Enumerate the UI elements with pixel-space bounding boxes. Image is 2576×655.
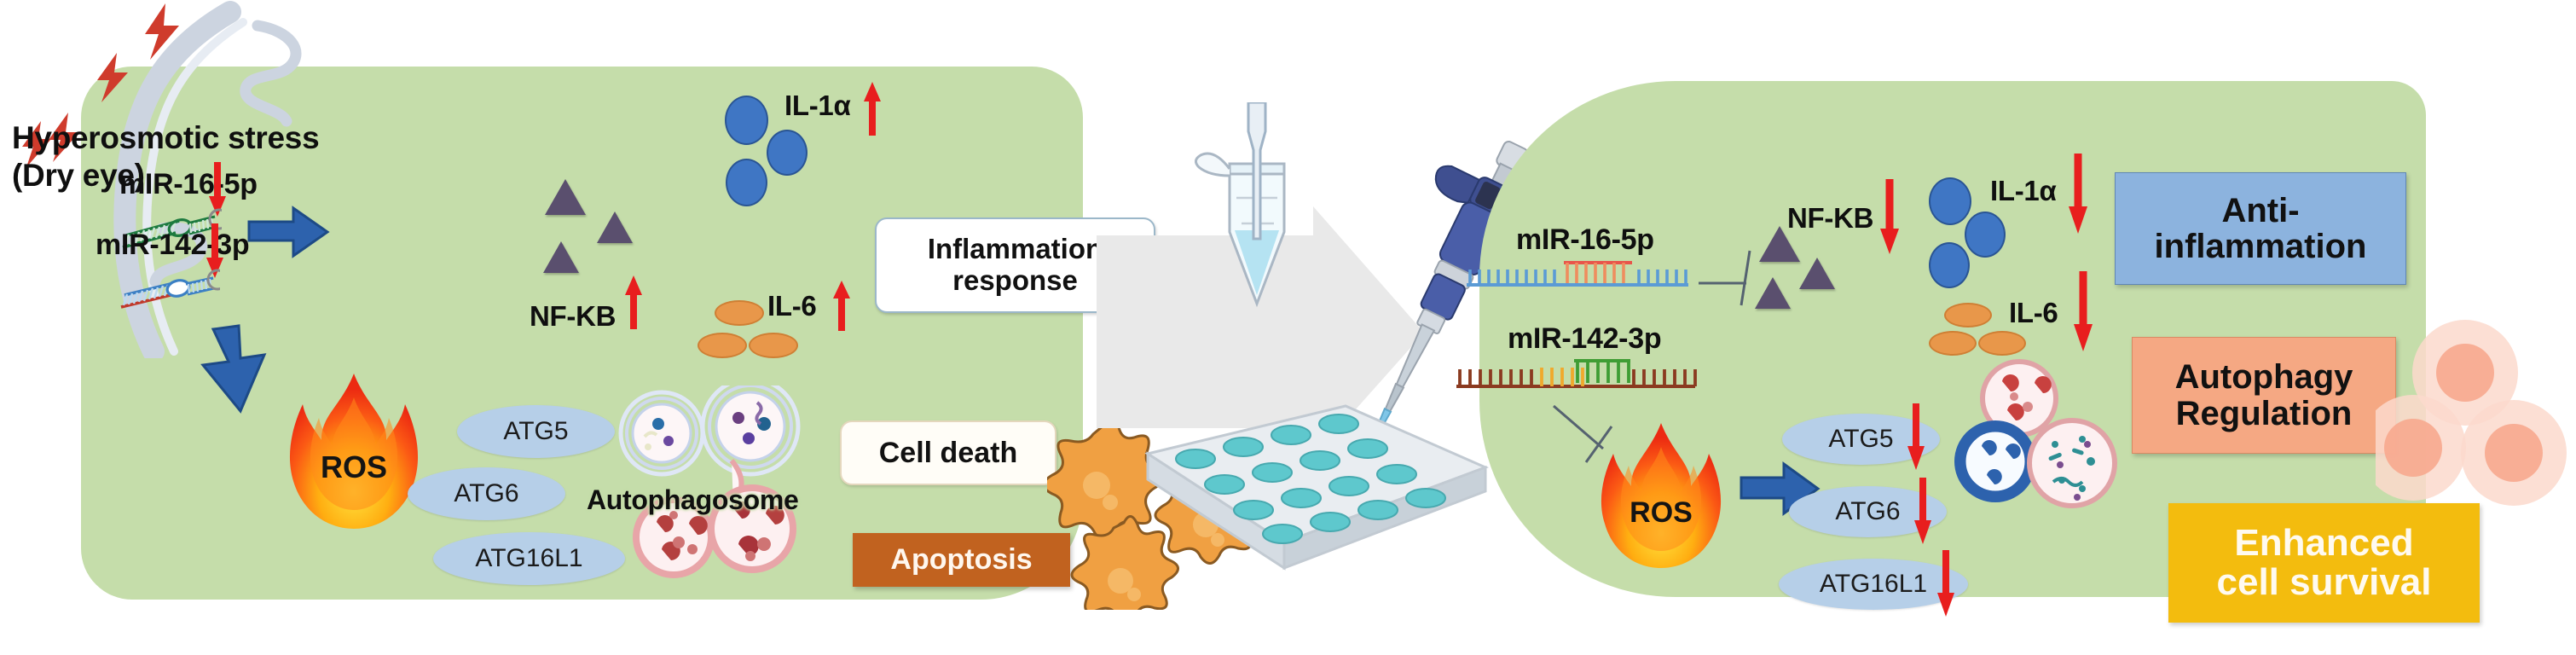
autophagosome-cluster-icon bbox=[1953, 354, 2132, 533]
il6-dot-icon bbox=[1944, 303, 1992, 327]
left-nfkb-label: NF-KB bbox=[530, 300, 616, 333]
il6-dot-icon bbox=[749, 333, 798, 358]
right-il1a-label: IL-1α bbox=[1990, 175, 2056, 207]
figure-canvas: Hyperosmotic stress (Dry eye) mIR-16-5p … bbox=[0, 0, 2576, 655]
right-nfkb-label: NF-KB bbox=[1787, 202, 1873, 235]
well-plate-icon bbox=[1134, 358, 1492, 571]
anti-inflammation-box: Anti- inflammation bbox=[2115, 172, 2406, 285]
survival-line-1: Enhanced bbox=[2217, 524, 2432, 563]
down-arrow-icon bbox=[1936, 550, 1956, 618]
nfkb-triangle-icon bbox=[597, 212, 633, 243]
apoptosis-label: Apoptosis bbox=[890, 543, 1032, 577]
mir-16-5p-mimic-icon bbox=[1465, 256, 1712, 293]
microcentrifuge-tube-icon bbox=[1185, 102, 1339, 358]
left-il6-label: IL-6 bbox=[767, 290, 816, 322]
down-arrow-icon bbox=[2072, 271, 2094, 353]
il1a-dot-icon bbox=[1965, 212, 2006, 258]
atg5-label: ATG5 bbox=[1828, 425, 1893, 454]
il1a-dot-icon bbox=[725, 96, 768, 145]
atg6-label: ATG6 bbox=[1835, 497, 1900, 526]
down-arrow-icon bbox=[1878, 179, 1901, 256]
mir-142-3p-hairpin-icon bbox=[118, 266, 220, 319]
il1a-dot-icon bbox=[726, 159, 767, 206]
atg5-ellipse: ATG5 bbox=[457, 405, 615, 458]
up-arrow-icon bbox=[862, 81, 883, 137]
il1a-dot-icon bbox=[1929, 242, 1970, 288]
mir-142-3p-mimic-icon bbox=[1455, 354, 1711, 395]
ros-flame-icon: ROS bbox=[281, 367, 426, 537]
lightning-bolt-icon bbox=[136, 2, 188, 61]
atg6-label: ATG6 bbox=[454, 479, 518, 508]
down-arrow-icon bbox=[1906, 403, 1926, 472]
ros-activation-arrow-icon bbox=[198, 324, 280, 418]
atg16l1-label: ATG16L1 bbox=[475, 544, 582, 573]
cell-death-box: Cell death bbox=[840, 420, 1056, 485]
autophagy-line-1: Autophagy bbox=[2175, 359, 2353, 395]
nfkb-triangle-icon bbox=[1799, 258, 1835, 289]
left-mir-142-3p-label: mIR-142-3p bbox=[96, 229, 249, 262]
up-arrow-icon bbox=[831, 280, 852, 333]
il1a-dot-icon bbox=[767, 130, 808, 176]
atg5-label: ATG5 bbox=[503, 417, 568, 446]
il6-dot-icon bbox=[698, 333, 747, 358]
survival-line-2: cell survival bbox=[2217, 563, 2432, 602]
right-mir-142-3p-label: mIR-142-3p bbox=[1508, 322, 1661, 356]
down-arrow-icon bbox=[1913, 478, 1933, 546]
left-mir-16-5p-label: mIR-16-5p bbox=[119, 168, 258, 201]
nfkb-triangle-icon bbox=[543, 241, 579, 273]
anti-inflammation-line-1: Anti- bbox=[2155, 193, 2367, 229]
autophagosome-label: Autophagosome bbox=[587, 484, 799, 516]
atg16l1-label: ATG16L1 bbox=[1820, 570, 1927, 599]
healthy-cells-icon bbox=[2376, 320, 2572, 525]
il1a-dot-icon bbox=[1929, 177, 1971, 225]
il6-dot-icon bbox=[1929, 331, 1977, 356]
autophagy-line-2: Regulation bbox=[2175, 396, 2353, 432]
il6-dot-icon bbox=[715, 300, 764, 326]
stress-line-1: Hyperosmotic stress bbox=[12, 119, 319, 157]
enhanced-cell-survival-box: Enhanced cell survival bbox=[2168, 503, 2480, 623]
il6-dot-icon bbox=[1978, 331, 2026, 356]
svg-text:ROS: ROS bbox=[321, 449, 387, 484]
atg16l1-ellipse: ATG16L1 bbox=[433, 532, 625, 585]
up-arrow-icon bbox=[623, 275, 644, 331]
left-il1a-label: IL-1α bbox=[784, 90, 850, 122]
nfkb-triangle-icon bbox=[1755, 277, 1791, 309]
apoptosis-box: Apoptosis bbox=[853, 533, 1070, 587]
right-mir-16-5p-label: mIR-16-5p bbox=[1516, 223, 1654, 257]
atg6-ellipse: ATG6 bbox=[408, 467, 565, 520]
down-arrow-icon bbox=[2067, 154, 2089, 235]
nfkb-triangle-icon bbox=[545, 179, 586, 215]
anti-inflammation-line-2: inflammation bbox=[2155, 229, 2367, 264]
right-il6-label: IL-6 bbox=[2009, 297, 2058, 329]
lightning-bolt-icon bbox=[90, 51, 136, 104]
activation-arrow-icon bbox=[247, 205, 331, 259]
autophagy-regulation-box: Autophagy Regulation bbox=[2132, 337, 2396, 454]
svg-text:ROS: ROS bbox=[1630, 496, 1693, 529]
cell-death-label: Cell death bbox=[879, 437, 1017, 470]
ros-flame-icon: ROS bbox=[1593, 418, 1729, 576]
